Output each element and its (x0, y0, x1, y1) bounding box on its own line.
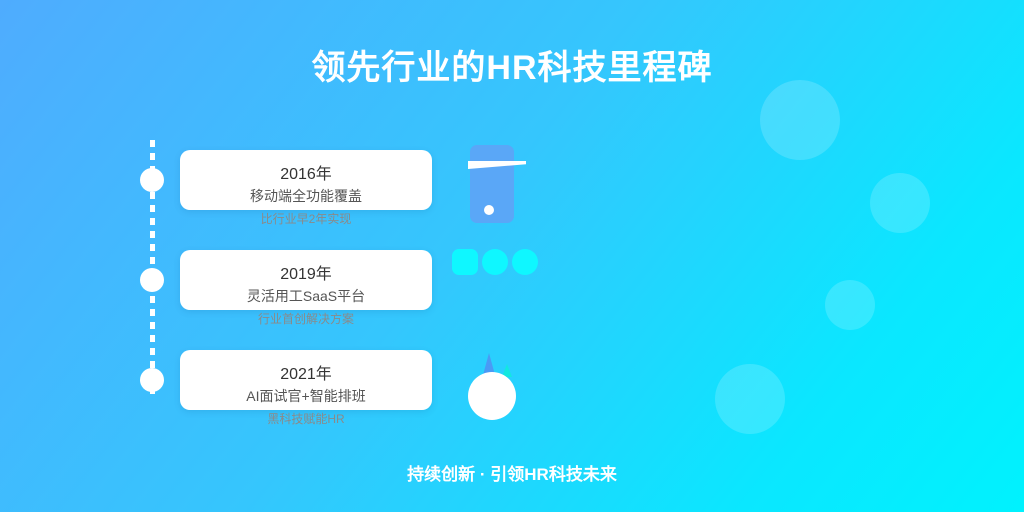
milestone-card-1[interactable]: 2016年 移动端全功能覆盖 比行业早2年实现 (180, 150, 432, 210)
phone-home-button-icon (484, 205, 494, 215)
decorative-circle-3 (825, 280, 875, 330)
footer-tagline: 持续创新 · 引领HR科技未来 (0, 460, 1024, 485)
page-title: 领先行业的HR科技里程碑 (0, 40, 1024, 89)
chip-circle-icon-2 (512, 249, 538, 275)
slide-canvas: 领先行业的HR科技里程碑 2016年 移动端全功能覆盖 比行业早2年实现 201… (0, 0, 1024, 512)
orb-circle-icon (468, 372, 516, 420)
timeline-dot-2 (140, 268, 164, 292)
milestone-headline: 灵活用工SaaS平台 (180, 286, 432, 306)
milestone-note: 黑科技赋能HR (180, 410, 432, 427)
chip-square-icon (452, 249, 478, 275)
milestone-note: 行业首创解决方案 (180, 310, 432, 327)
milestone-headline: AI面试官+智能排班 (180, 386, 432, 406)
decorative-circle-2 (870, 173, 930, 233)
decorative-circle-1 (760, 80, 840, 160)
milestone-card-3[interactable]: 2021年 AI面试官+智能排班 黑科技赋能HR (180, 350, 432, 410)
timeline-dot-3 (140, 368, 164, 392)
decorative-circle-4 (715, 364, 785, 434)
milestone-year: 2016年 (180, 160, 432, 184)
milestone-note: 比行业早2年实现 (180, 210, 432, 227)
milestone-headline: 移动端全功能覆盖 (180, 186, 432, 206)
milestone-year: 2021年 (180, 360, 432, 384)
milestone-card-2[interactable]: 2019年 灵活用工SaaS平台 行业首创解决方案 (180, 250, 432, 310)
chip-circle-icon-1 (482, 249, 508, 275)
milestone-year: 2019年 (180, 260, 432, 284)
timeline-dot-1 (140, 168, 164, 192)
